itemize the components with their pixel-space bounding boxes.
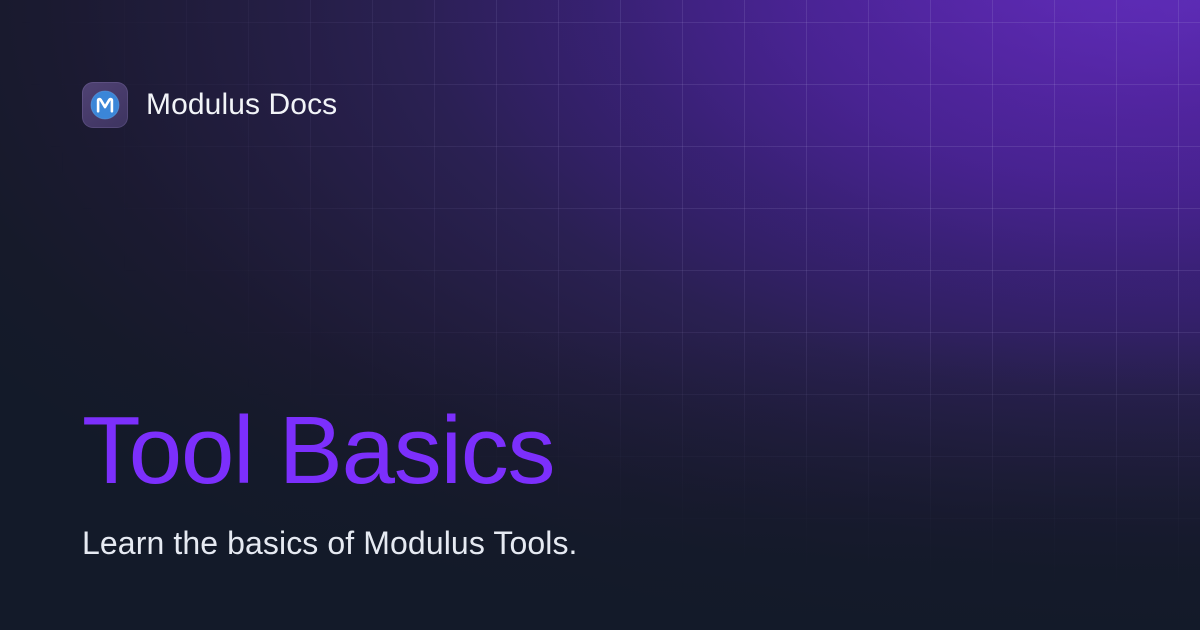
hero-text-block: Tool Basics Learn the basics of Modulus … xyxy=(82,400,1122,562)
brand-lockup: Modulus Docs xyxy=(82,82,337,128)
modulus-m-monogram-icon xyxy=(82,82,128,128)
card-content: Modulus Docs Tool Basics Learn the basic… xyxy=(0,0,1200,630)
page-title: Tool Basics xyxy=(82,400,1122,502)
brand-name: Modulus Docs xyxy=(146,90,337,120)
page-subtitle: Learn the basics of Modulus Tools. xyxy=(82,524,1122,562)
og-social-card: Modulus Docs Tool Basics Learn the basic… xyxy=(0,0,1200,630)
